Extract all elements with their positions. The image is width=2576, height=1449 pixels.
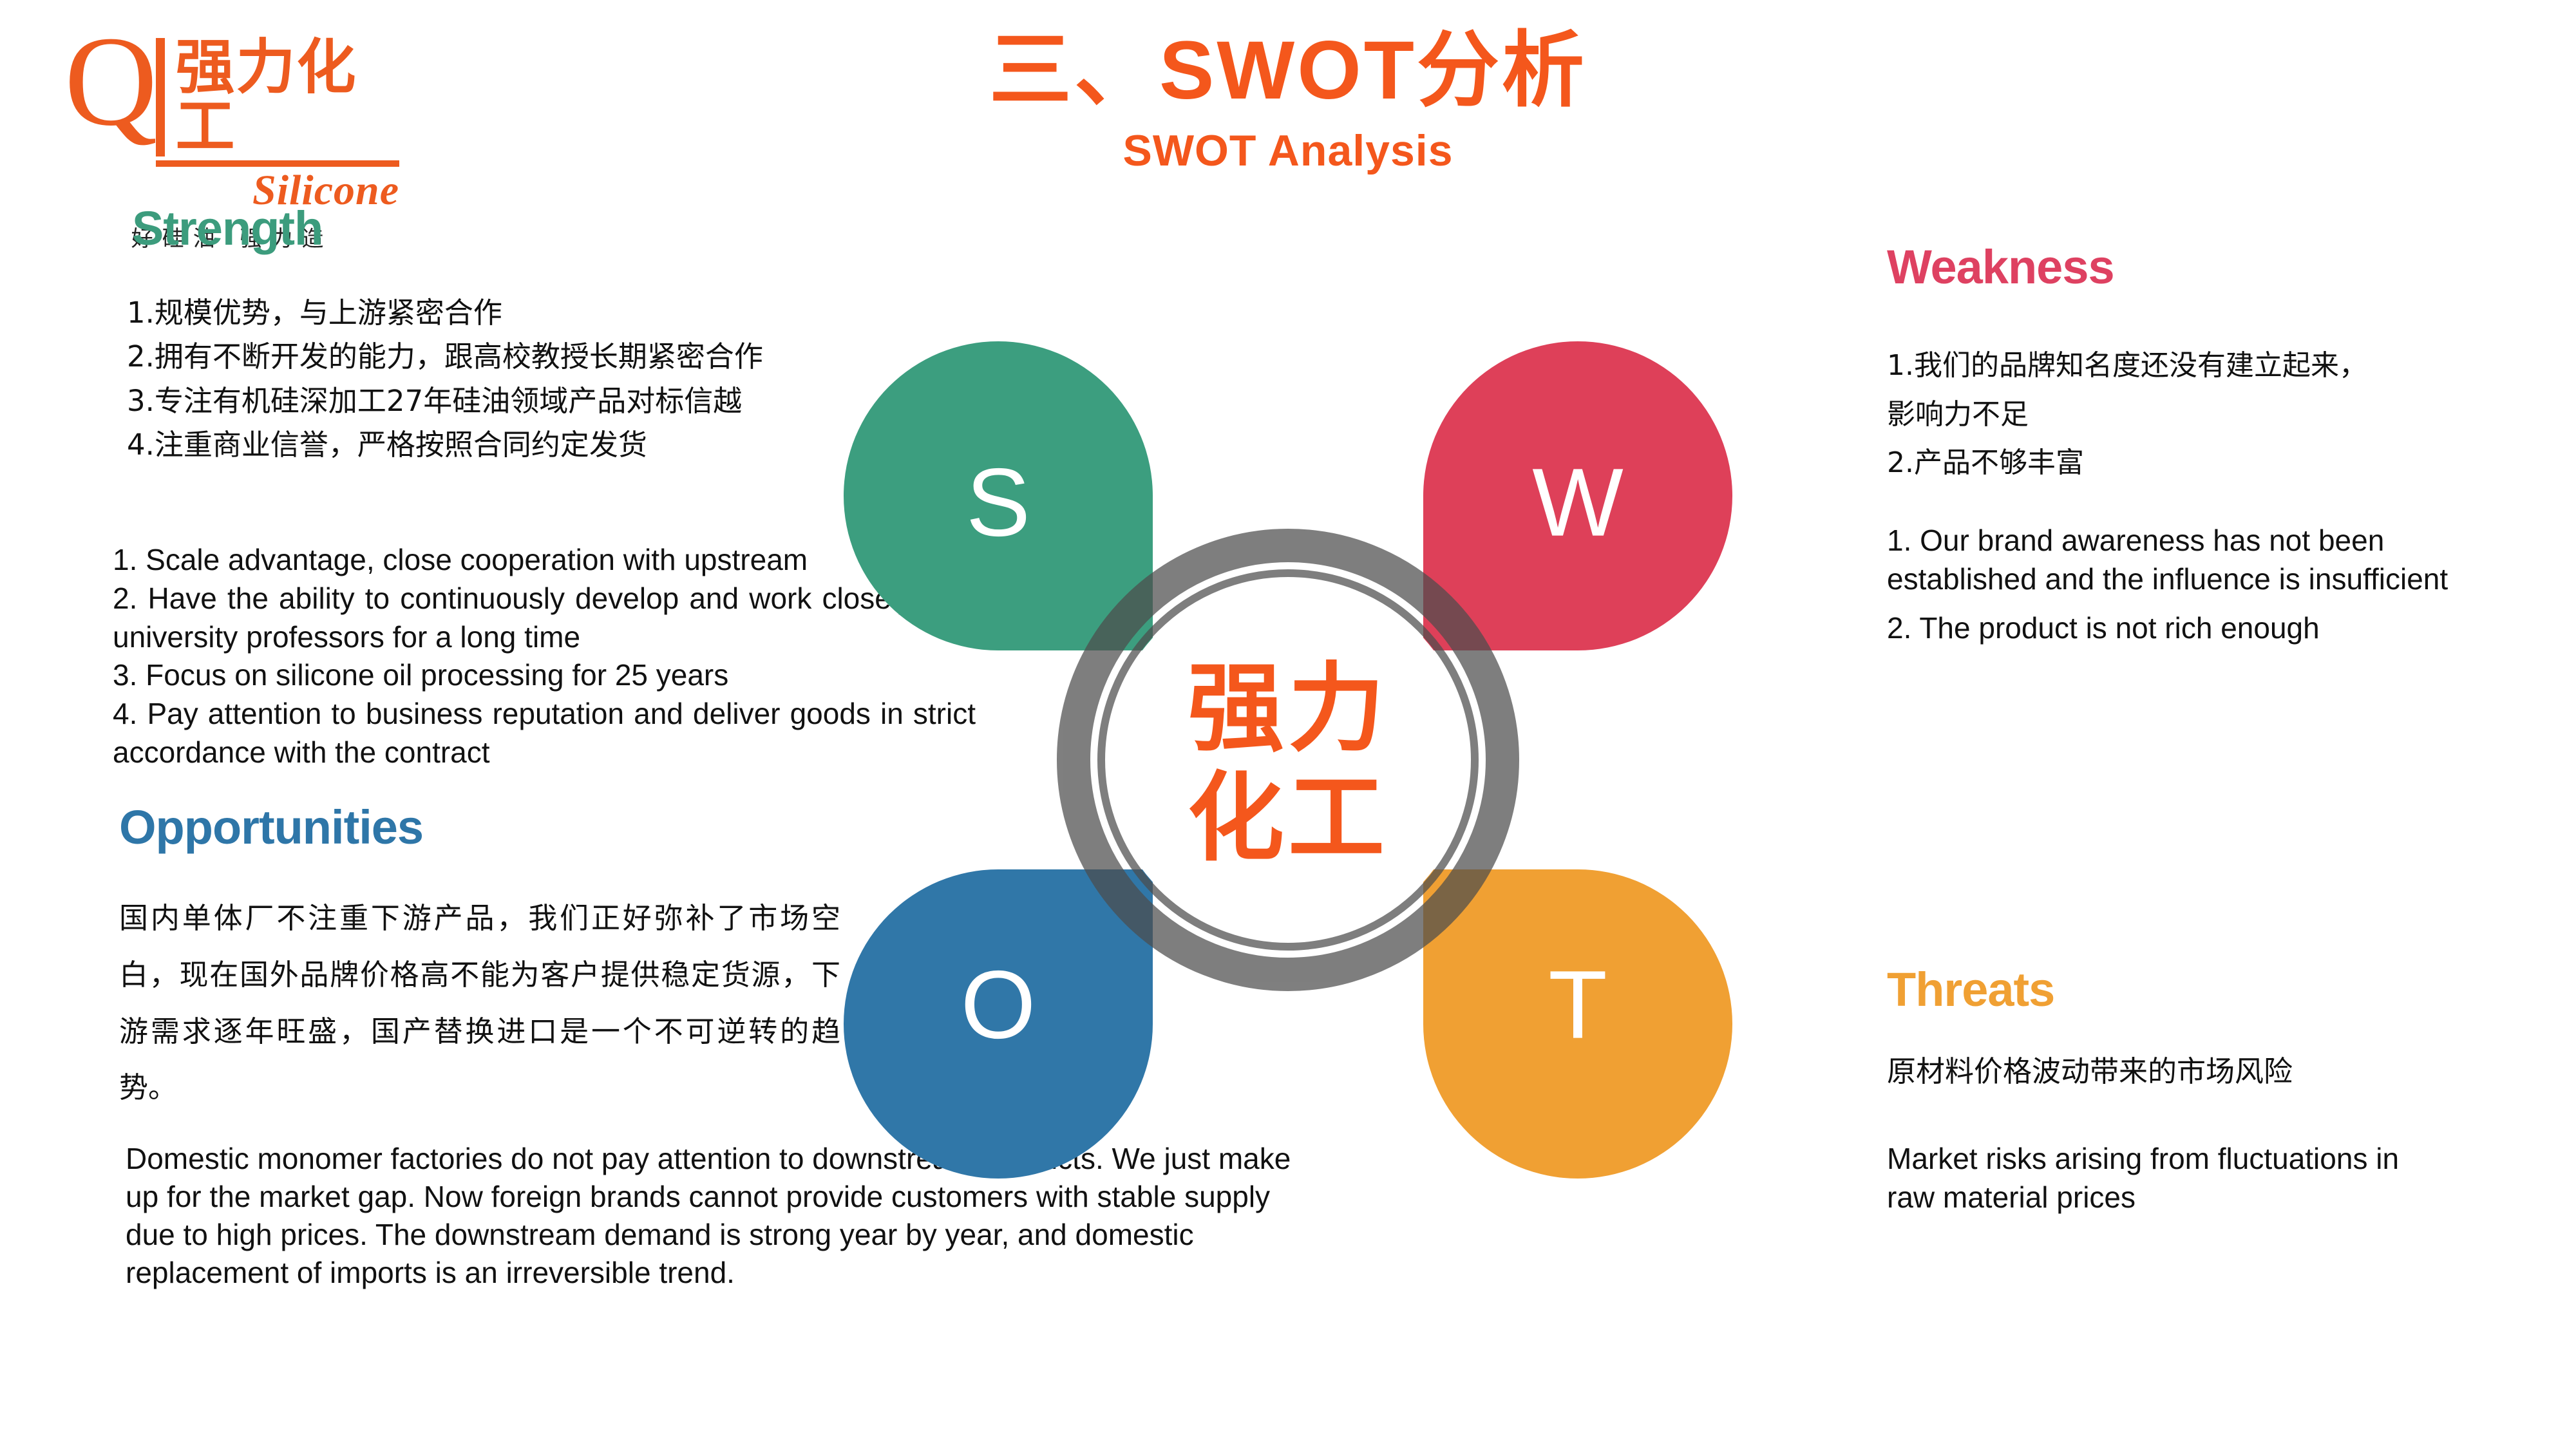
logo-q-mark: Q — [64, 29, 151, 135]
threats-heading: Threats — [1887, 966, 2054, 1014]
strength-heading: Strength — [132, 205, 323, 252]
logo-company-name-cn: 强力化工 — [156, 38, 399, 156]
page-subtitle: SWOT Analysis — [708, 126, 1868, 176]
weakness-heading: Weakness — [1887, 243, 2114, 291]
weakness-cn-item: 影响力不足 — [1887, 390, 2454, 439]
weakness-list-cn: 1.我们的品牌知名度还没有建立起来， 影响力不足 2.产品不够丰富 — [1887, 341, 2454, 488]
slide-title-block: 三、SWOT分析 SWOT Analysis — [708, 26, 1868, 176]
weakness-en-item: 2. The product is not rich enough — [1887, 609, 2454, 648]
weakness-cn-item: 1.我们的品牌知名度还没有建立起来， — [1887, 341, 2454, 390]
strength-cn-item: 1.规模优势，与上游紧密合作 — [119, 291, 763, 335]
petal-letter-t: T — [1548, 951, 1607, 1059]
strength-cn-item: 2.拥有不断开发的能力，跟高校教授长期紧密合作 — [119, 335, 763, 379]
petal-letter-s: S — [966, 448, 1030, 556]
weakness-list-en: 1. Our brand awareness has not been esta… — [1887, 522, 2454, 647]
company-logo: Q 强力化工 Silicone 好硅油 强力造 — [64, 29, 399, 190]
petal-letter-w: W — [1532, 448, 1624, 556]
logo-wordmark-group: 强力化工 Silicone — [156, 29, 399, 212]
threats-en-paragraph: Market risks arising from fluctuations i… — [1887, 1140, 2415, 1217]
weakness-en-item: 1. Our brand awareness has not been esta… — [1887, 522, 2454, 599]
logo-main-row: Q 强力化工 Silicone — [64, 29, 399, 212]
weakness-cn-item: 2.产品不够丰富 — [1887, 439, 2454, 488]
center-brand-line2: 化工 — [1188, 762, 1388, 875]
swot-diagram: 强力 化工 S W O T — [824, 322, 1752, 1198]
opportunities-text-cn: 国内单体厂不注重下游产品，我们正好弥补了市场空白，现在国外品牌价格高不能为客户提… — [119, 890, 840, 1116]
page-title: 三、SWOT分析 — [708, 26, 1868, 117]
threats-text-cn: 原材料价格波动带来的市场风险 — [1887, 1050, 2467, 1094]
petal-letter-o: O — [961, 951, 1036, 1059]
logo-divider-rule — [156, 160, 399, 167]
opportunities-heading: Opportunities — [119, 804, 423, 851]
center-brand-line1: 强力 — [1188, 653, 1388, 765]
threats-text-en: Market risks arising from fluctuations i… — [1887, 1140, 2415, 1217]
strength-cn-item: 4.注重商业信誉，严格按照合同约定发货 — [119, 423, 763, 467]
strength-cn-item: 3.专注有机硅深加工27年硅油领域产品对标信越 — [119, 379, 763, 423]
strength-list-cn: 1.规模优势，与上游紧密合作 2.拥有不断开发的能力，跟高校教授长期紧密合作 3… — [119, 291, 763, 468]
